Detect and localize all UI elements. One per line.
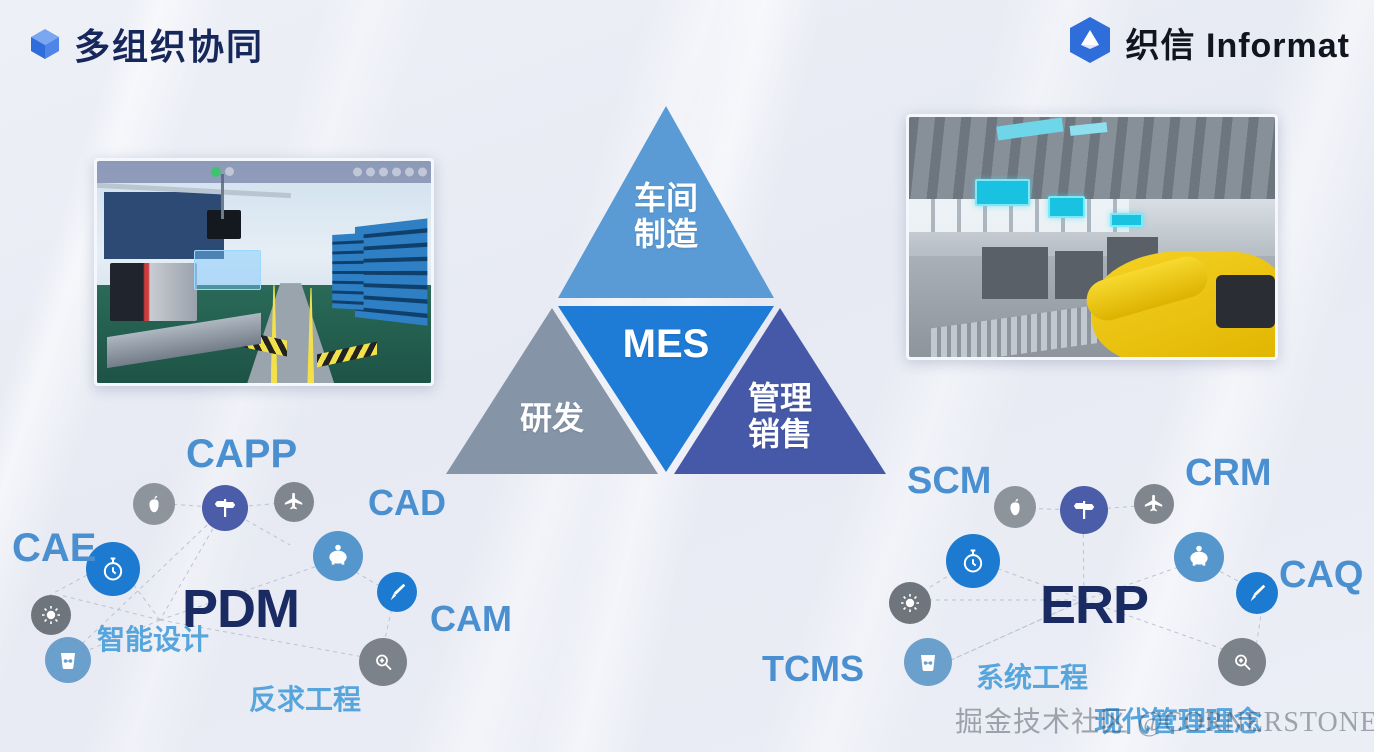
page-header: 多组织协同 织信 Informat (0, 0, 1374, 92)
airplane-icon[interactable] (1134, 484, 1174, 524)
pen-nib-icon[interactable] (377, 572, 417, 612)
airplane-icon[interactable] (274, 482, 314, 522)
label-tcms: TCMS (762, 648, 864, 690)
brand-group: 织信 Informat (1068, 16, 1350, 69)
pen-nib-icon[interactable] (1236, 572, 1278, 614)
erp-hub-label: ERP (1040, 574, 1148, 636)
triangle-right-label: 管理 销售 (710, 380, 850, 453)
signpost-icon[interactable] (202, 485, 248, 531)
sun-icon[interactable] (889, 582, 931, 624)
label-intelligent-design: 智能设计 (97, 618, 209, 658)
label-reverse-engineering: 反求工程 (249, 678, 361, 718)
title-group: 多组织协同 (30, 18, 264, 70)
apple-icon[interactable] (133, 483, 175, 525)
brand-name: 织信 Informat (1126, 18, 1350, 67)
triangle-center-label: MES (596, 322, 736, 368)
page-title: 多组织协同 (74, 18, 264, 70)
apple-icon[interactable] (994, 486, 1036, 528)
label-cam: CAM (430, 598, 512, 640)
label-capp: CAPP (186, 432, 297, 477)
magnifier-plus-icon[interactable] (359, 638, 407, 686)
informat-hexagon-logo (1068, 16, 1112, 69)
triangle-top-label: 车间 制造 (596, 180, 736, 253)
label-crm: CRM (1185, 452, 1272, 495)
sun-icon[interactable] (31, 595, 71, 635)
pdm-cluster: PDM CAPP CAE CAD CAM 智能设计 反求工程 (0, 420, 520, 752)
label-cae: CAE (12, 526, 96, 571)
cube-icon (30, 28, 60, 60)
watermark: 掘金技术社区 @CORNERSTONE (955, 700, 1374, 740)
label-scm: SCM (907, 460, 991, 503)
label-system-engineering: 系统工程 (976, 656, 1088, 696)
label-cad: CAD (368, 482, 446, 524)
piggy-bank-icon[interactable] (313, 531, 363, 581)
label-caq: CAQ (1279, 554, 1363, 597)
stopwatch-icon[interactable] (946, 534, 1000, 588)
smart-factory-robot-photo (906, 114, 1278, 360)
digital-twin-warehouse-photo (94, 158, 434, 386)
glass-face-icon[interactable] (904, 638, 952, 686)
piggy-bank-icon[interactable] (1174, 532, 1224, 582)
signpost-icon[interactable] (1060, 486, 1108, 534)
magnifier-plus-icon[interactable] (1218, 638, 1266, 686)
glass-face-icon[interactable] (45, 637, 91, 683)
